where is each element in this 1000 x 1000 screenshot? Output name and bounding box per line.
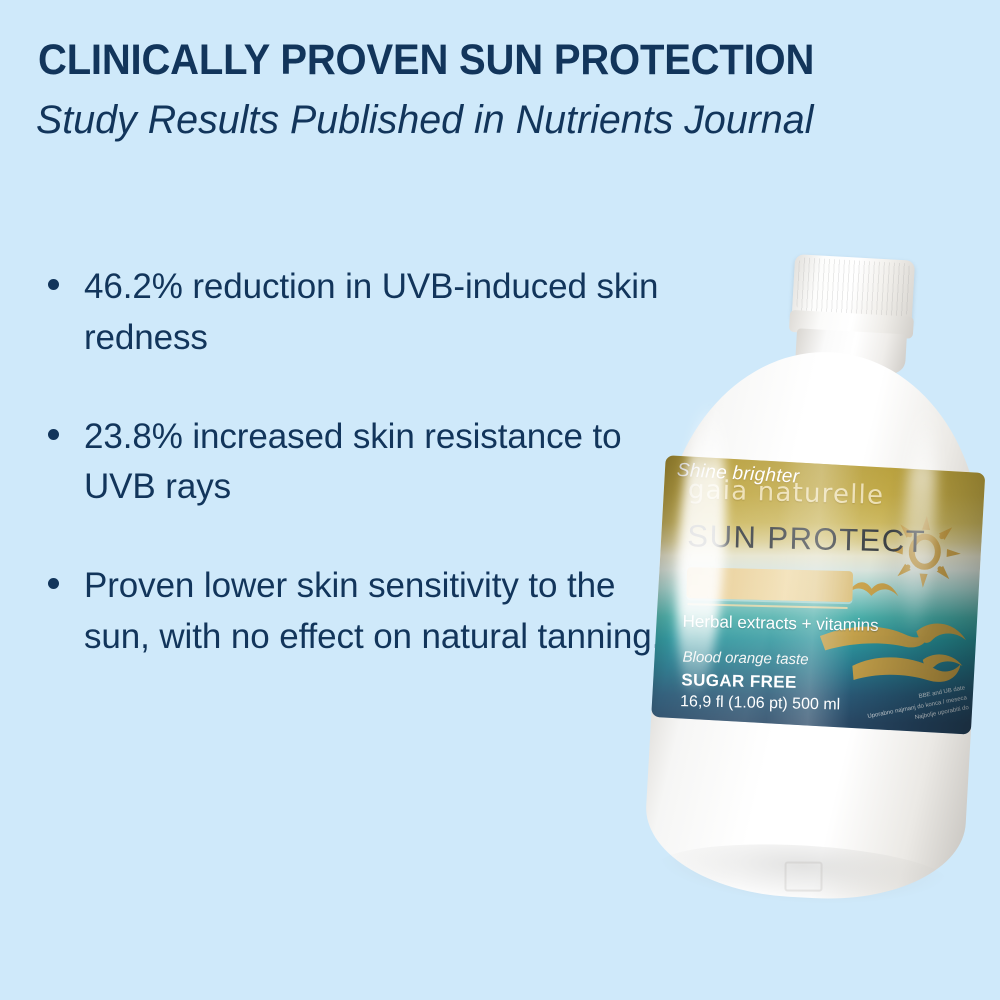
list-item: 46.2% reduction in UVB-induced skin redn… (44, 262, 684, 364)
bullet-dot-icon (48, 429, 59, 440)
list-item-text: 23.8% increased skin resistance to UVB r… (84, 412, 684, 514)
product-bottle-image: gaia naturelle SUN PROTECT Shine brighte… (613, 238, 1000, 958)
list-item-text: Proven lower skin sensitivity to the sun… (84, 561, 684, 663)
poster-canvas: CLINICALLY PROVEN SUN PROTECTION Study R… (0, 0, 1000, 1000)
bullet-dot-icon (48, 578, 59, 589)
list-item-text: 46.2% reduction in UVB-induced skin redn… (84, 262, 684, 364)
page-title: CLINICALLY PROVEN SUN PROTECTION (38, 38, 894, 83)
benefits-list: 46.2% reduction in UVB-induced skin redn… (44, 262, 684, 663)
page-subtitle: Study Results Published in Nutrients Jou… (36, 98, 962, 142)
cap-ribs-texture (796, 257, 911, 316)
bullet-dot-icon (48, 279, 59, 290)
list-item: 23.8% increased skin resistance to UVB r… (44, 412, 684, 514)
list-item: Proven lower skin sensitivity to the sun… (44, 561, 684, 663)
recycling-emboss-icon (784, 861, 822, 891)
